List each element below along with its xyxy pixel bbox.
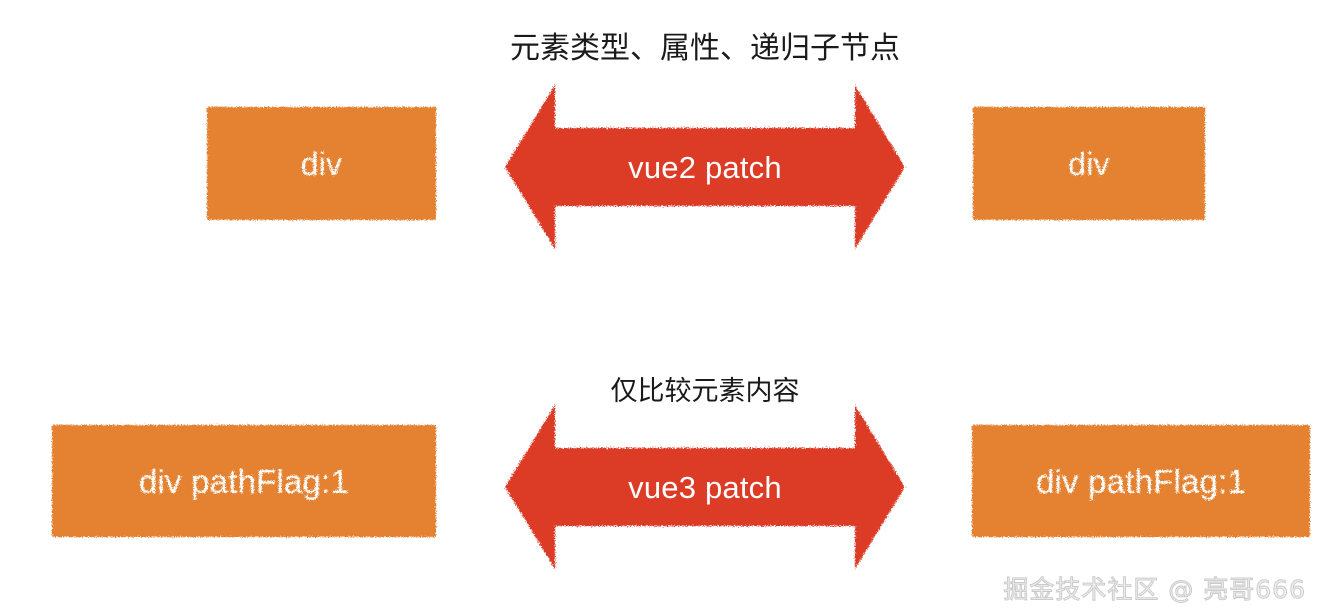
caption-vue2: 元素类型、属性、递归子节点 <box>445 34 965 64</box>
node-box-vue2-left: div <box>207 107 436 220</box>
node-label-vue3-left: div pathFlag:1 <box>139 465 349 498</box>
caption-vue3: 仅比较元素内容 <box>505 378 905 405</box>
node-label-vue2-right: div <box>1068 148 1110 180</box>
node-label-vue3-right: div pathFlag:1 <box>1036 465 1246 498</box>
node-label-vue2-left: div <box>301 148 343 180</box>
watermark: 掘金技术社区 @ 亮哥666 <box>1003 577 1306 602</box>
double-headed-arrow-icon-vue3: vue3 patch <box>493 402 917 572</box>
double-headed-arrow-icon-vue2: vue2 patch <box>493 82 917 252</box>
node-box-vue3-right: div pathFlag:1 <box>972 425 1310 537</box>
node-box-vue2-right: div <box>973 107 1205 220</box>
diagram-canvas: 元素类型、属性、递归子节点 div vue2 patch div 仅比较元素内容… <box>0 0 1324 612</box>
node-box-vue3-left: div pathFlag:1 <box>52 425 436 537</box>
